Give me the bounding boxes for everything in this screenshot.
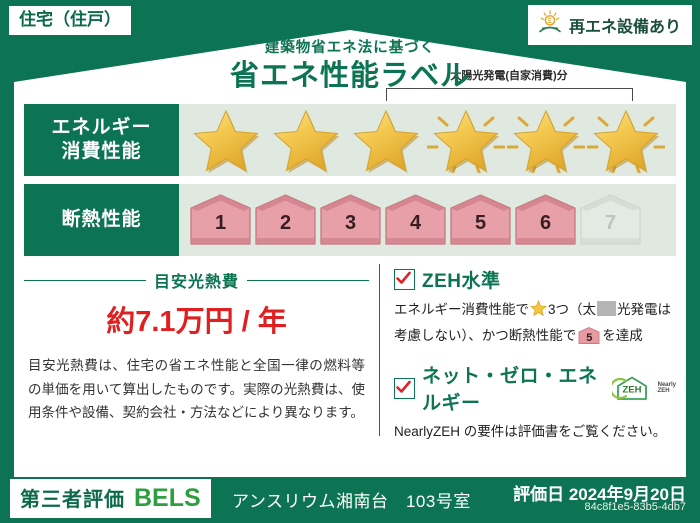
label-title-block: 建築物省エネ法に基づく 省エネ性能ラベル	[0, 40, 700, 95]
energy-star-1	[187, 107, 265, 173]
insulation-label: 断熱性能	[61, 208, 141, 232]
net-zero-heading: ネット・ゼロ・エネルギー ZEH Nearly ZEH	[394, 361, 676, 415]
insulation-level-3: 3	[319, 194, 382, 246]
utility-cost-heading: 目安光熱費	[24, 268, 369, 292]
insulation-level-number: 4	[384, 212, 447, 235]
insulation-level-4: 4	[384, 194, 447, 246]
heading-rule-left	[24, 280, 146, 281]
utility-cost-heading-label: 目安光熱費	[154, 268, 239, 292]
insulation-level-5: 5	[449, 194, 512, 246]
net-zero-label: ネット・ゼロ・エネルギー	[422, 361, 600, 415]
renewable-energy-badge: 再エネ設備あり	[528, 5, 692, 45]
energy-star-5	[507, 107, 585, 173]
building-type-chip: 住宅（住戸）	[8, 5, 132, 36]
utility-cost-panel: 目安光熱費 約7.1万円 / 年 目安光熱費は、住宅の省エネ性能と全国一律の燃料…	[24, 264, 369, 460]
bels-chip-jp-label: 第三者評価	[20, 483, 125, 512]
insulation-level-number: 5	[449, 212, 512, 235]
energy-star-4	[427, 107, 505, 173]
energy-performance-label: 住宅（住戸） 再エネ設備あり 建築物省エネ法に基づく 省エネ性能ラベル	[0, 0, 700, 523]
label-footer: 第三者評価 BELS アンスリウム湘南台 103号室 評価日 2024年9月20…	[0, 471, 700, 523]
utility-cost-value: 約7.1万円 / 年	[24, 298, 369, 340]
title-main: 省エネ性能ラベル	[0, 58, 700, 94]
inline-insulation-badge: 5	[578, 327, 600, 344]
renewable-badge-label: 再エネ設備あり	[569, 13, 681, 37]
energy-star-6	[587, 107, 665, 173]
insulation-level-number: 7	[579, 212, 642, 235]
building-type-label: 住宅（住戸）	[19, 10, 121, 29]
bels-certification-chip: 第三者評価 BELS	[10, 479, 211, 518]
insulation-level-7: 7	[579, 194, 642, 246]
energy-performance-row-body: 太陽光発電(自家消費)分	[179, 104, 676, 176]
energy-star-3	[347, 107, 425, 173]
sun-icon	[537, 10, 563, 39]
label-content-board: エネルギー 消費性能 太陽光発電(自家消費)分 断熱性能 1234567	[24, 104, 676, 466]
energy-star-rating	[179, 107, 665, 173]
zeh-standard-label: ZEH水準	[422, 266, 501, 293]
insulation-level-scale: 1234567	[179, 194, 642, 246]
energy-star-2	[267, 107, 345, 173]
insulation-performance-row-label: 断熱性能	[24, 184, 179, 256]
zeh-logo-sub-line1: Nearly	[658, 382, 676, 388]
check-icon	[394, 269, 415, 290]
insulation-level-number: 2	[254, 212, 317, 235]
bels-chip-en-label: BELS	[134, 484, 201, 513]
zeh-desc-part-d: を達成	[602, 328, 643, 343]
zeh-desc-part-b: 3つ（太	[548, 302, 596, 317]
energy-label-line2: 消費性能	[61, 140, 141, 164]
evaluation-id: 84c8f1e5-83b5-4db7	[584, 501, 686, 513]
zeh-desc-part-a: エネルギー消費性能で	[394, 302, 529, 317]
insulation-level-6: 6	[514, 194, 577, 246]
panel-divider	[379, 264, 380, 436]
zeh-standard-description: エネルギー消費性能で3つ（太光発電は考慮しない）、かつ断熱性能で5を達成	[394, 298, 676, 347]
insulation-performance-row: 断熱性能 1234567	[24, 184, 676, 256]
redaction-block	[597, 301, 616, 316]
zeh-logo-sub-line2: ZEH	[658, 388, 670, 394]
insulation-level-number: 3	[319, 212, 382, 235]
inline-insulation-badge-value: 5	[578, 329, 600, 348]
zeh-panel: ZEH水準 エネルギー消費性能で3つ（太光発電は考慮しない）、かつ断熱性能で5を…	[390, 264, 676, 460]
utility-cost-description: 目安光熱費は、住宅の省エネ性能と全国一律の燃料等の単価を用いて算出したものです。…	[24, 354, 369, 425]
svg-text:ZEH: ZEH	[622, 385, 641, 396]
insulation-performance-row-body: 1234567	[179, 184, 676, 256]
insulation-level-2: 2	[254, 194, 317, 246]
zeh-logo: ZEH Nearly ZEH	[612, 375, 676, 401]
insulation-level-number: 6	[514, 212, 577, 235]
zeh-standard-block: ZEH水準 エネルギー消費性能で3つ（太光発電は考慮しない）、かつ断熱性能で5を…	[394, 266, 676, 347]
energy-performance-row-label: エネルギー 消費性能	[24, 104, 179, 176]
zeh-logo-sub: Nearly ZEH	[658, 382, 676, 395]
check-icon	[394, 378, 415, 399]
inline-star-icon	[530, 305, 547, 320]
label-lower-section: 目安光熱費 約7.1万円 / 年 目安光熱費は、住宅の省エネ性能と全国一律の燃料…	[24, 264, 676, 460]
energy-label-line1: エネルギー	[51, 116, 151, 140]
net-zero-description: NearlyZEH の要件は評価書をご覧ください。	[394, 420, 676, 443]
zeh-standard-heading: ZEH水準	[394, 266, 676, 293]
heading-rule-right	[247, 280, 369, 281]
insulation-level-1: 1	[189, 194, 252, 246]
insulation-level-number: 1	[189, 212, 252, 235]
net-zero-energy-block: ネット・ゼロ・エネルギー ZEH Nearly ZEH	[394, 361, 676, 443]
energy-performance-row: エネルギー 消費性能 太陽光発電(自家消費)分	[24, 104, 676, 176]
property-name: アンスリウム湘南台 103号室	[232, 487, 471, 512]
